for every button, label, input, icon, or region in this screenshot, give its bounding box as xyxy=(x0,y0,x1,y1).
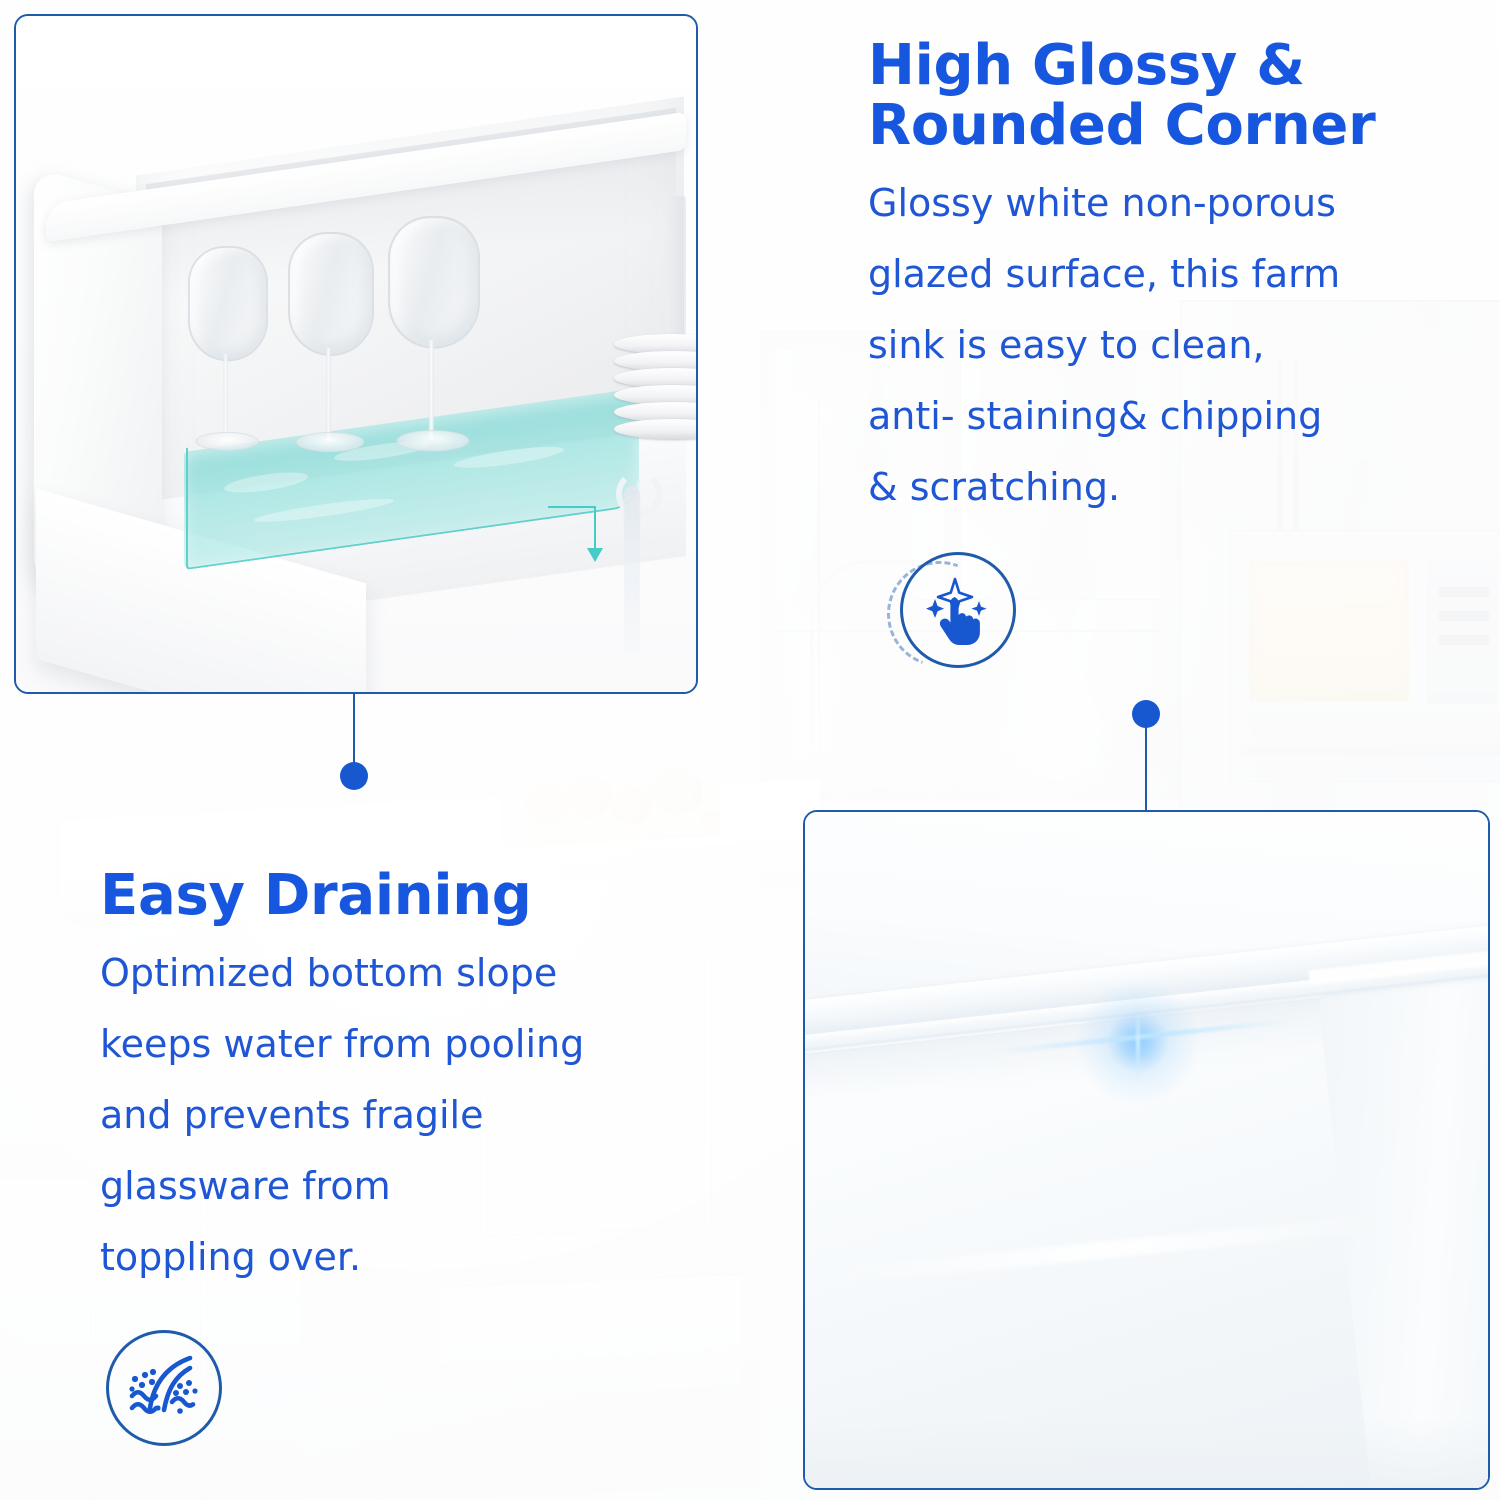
plate-rack-edge xyxy=(666,196,686,346)
body-line: toppling over. xyxy=(100,1222,700,1293)
body-line: anti- staining& chipping xyxy=(868,381,1468,452)
body-line: and prevents fragile xyxy=(100,1080,700,1151)
body-line: glazed surface, this farm xyxy=(868,239,1468,310)
body-line: Glossy white non-porous xyxy=(868,168,1468,239)
feature-heading-easy-draining: Easy Draining xyxy=(100,866,700,926)
feature-heading-high-glossy: High Glossy & Rounded Corner xyxy=(868,36,1468,156)
heading-line: High Glossy & xyxy=(868,33,1305,98)
feature-block-easy-draining: Easy Draining Optimized bottom slope kee… xyxy=(100,866,700,1293)
connector-dot-bottomright xyxy=(1132,700,1160,728)
body-line: keeps water from pooling xyxy=(100,1009,700,1080)
heading-line: Easy Draining xyxy=(100,863,532,928)
glossy-rim-scene xyxy=(805,812,1488,1488)
flow-arrow-horizontal xyxy=(548,506,596,508)
water-drain-glyph xyxy=(124,1348,204,1428)
draining-stream xyxy=(614,486,648,666)
connector-line-bottomright xyxy=(1145,726,1147,812)
feature-body-high-glossy: Glossy white non-porous glazed surface, … xyxy=(868,168,1468,523)
heading-line: Rounded Corner xyxy=(868,93,1375,158)
glint-vertical-ray xyxy=(1136,1004,1140,1080)
water-drain-icon xyxy=(106,1330,222,1446)
body-line: Optimized bottom slope xyxy=(100,938,700,1009)
body-line: & scratching. xyxy=(868,452,1468,523)
feature-block-high-glossy: High Glossy & Rounded Corner Glossy whit… xyxy=(868,36,1468,523)
body-line: glassware from xyxy=(100,1151,700,1222)
flow-arrow-down xyxy=(594,508,596,554)
sink-basin xyxy=(26,136,676,626)
body-line: sink is easy to clean, xyxy=(868,310,1468,381)
panel-glossy-rim-photo xyxy=(803,810,1490,1490)
connector-dot-topleft xyxy=(340,762,368,790)
plate-stack xyxy=(614,334,698,444)
sparkle-touch-icon xyxy=(900,552,1016,668)
panel-sink-draining-photo xyxy=(14,14,698,694)
rounded-corner-highlight xyxy=(1308,944,1490,1104)
infographic-canvas: High Glossy & Rounded Corner Glossy whit… xyxy=(0,0,1500,1500)
feature-body-easy-draining: Optimized bottom slope keeps water from … xyxy=(100,938,700,1293)
rim-floor-shadow xyxy=(805,1418,1488,1488)
sink-draining-scene xyxy=(16,16,696,692)
